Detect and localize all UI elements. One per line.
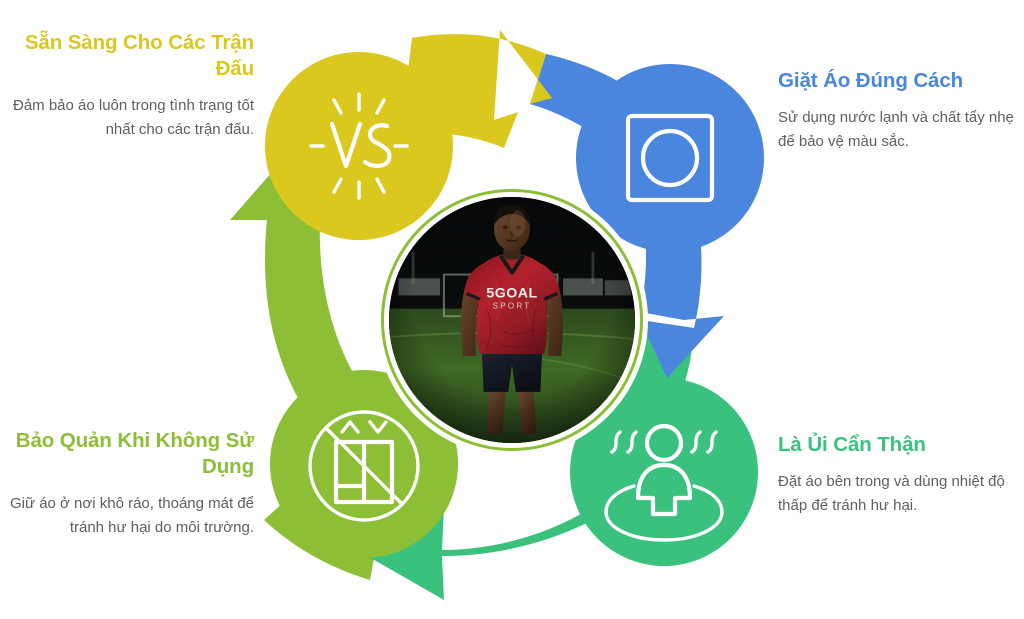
step-title-store: Bảo Quản Khi Không Sử Dụng [8,428,254,480]
step-body-wash: Sử dụng nước lạnh và chất tẩy nhẹ để bảo… [778,106,1024,153]
node-ready[interactable] [265,52,453,240]
step-text-ready: Sẵn Sàng Cho Các Trận Đấu Đảm bảo áo luô… [8,30,254,141]
step-body-store: Giữ áo ở nơi khô ráo, thoáng mát để trán… [8,492,254,539]
step-title-ready: Sẵn Sàng Cho Các Trận Đấu [8,30,254,82]
center-photo-frame: 5GOAL SPORT [376,184,648,456]
care-cycle-infographic: 5GOAL SPORT [0,0,1024,619]
step-text-wash: Giặt Áo Đúng Cách Sử dụng nước lạnh và c… [778,68,1024,153]
step-title-iron: Là Ủi Cẩn Thận [778,432,1024,458]
footballer-photo: 5GOAL SPORT [389,197,635,443]
step-title-wash: Giặt Áo Đúng Cách [778,68,1024,94]
step-text-iron: Là Ủi Cẩn Thận Đặt áo bên trong và dùng … [778,432,1024,517]
step-text-store: Bảo Quản Khi Không Sử Dụng Giữ áo ở nơi … [8,428,254,539]
step-body-ready: Đảm bảo áo luôn trong tình trạng tốt nhấ… [8,94,254,141]
step-body-iron: Đặt áo bên trong và dùng nhiệt độ thấp đ… [778,470,1024,517]
photo-ring: 5GOAL SPORT [381,189,643,451]
